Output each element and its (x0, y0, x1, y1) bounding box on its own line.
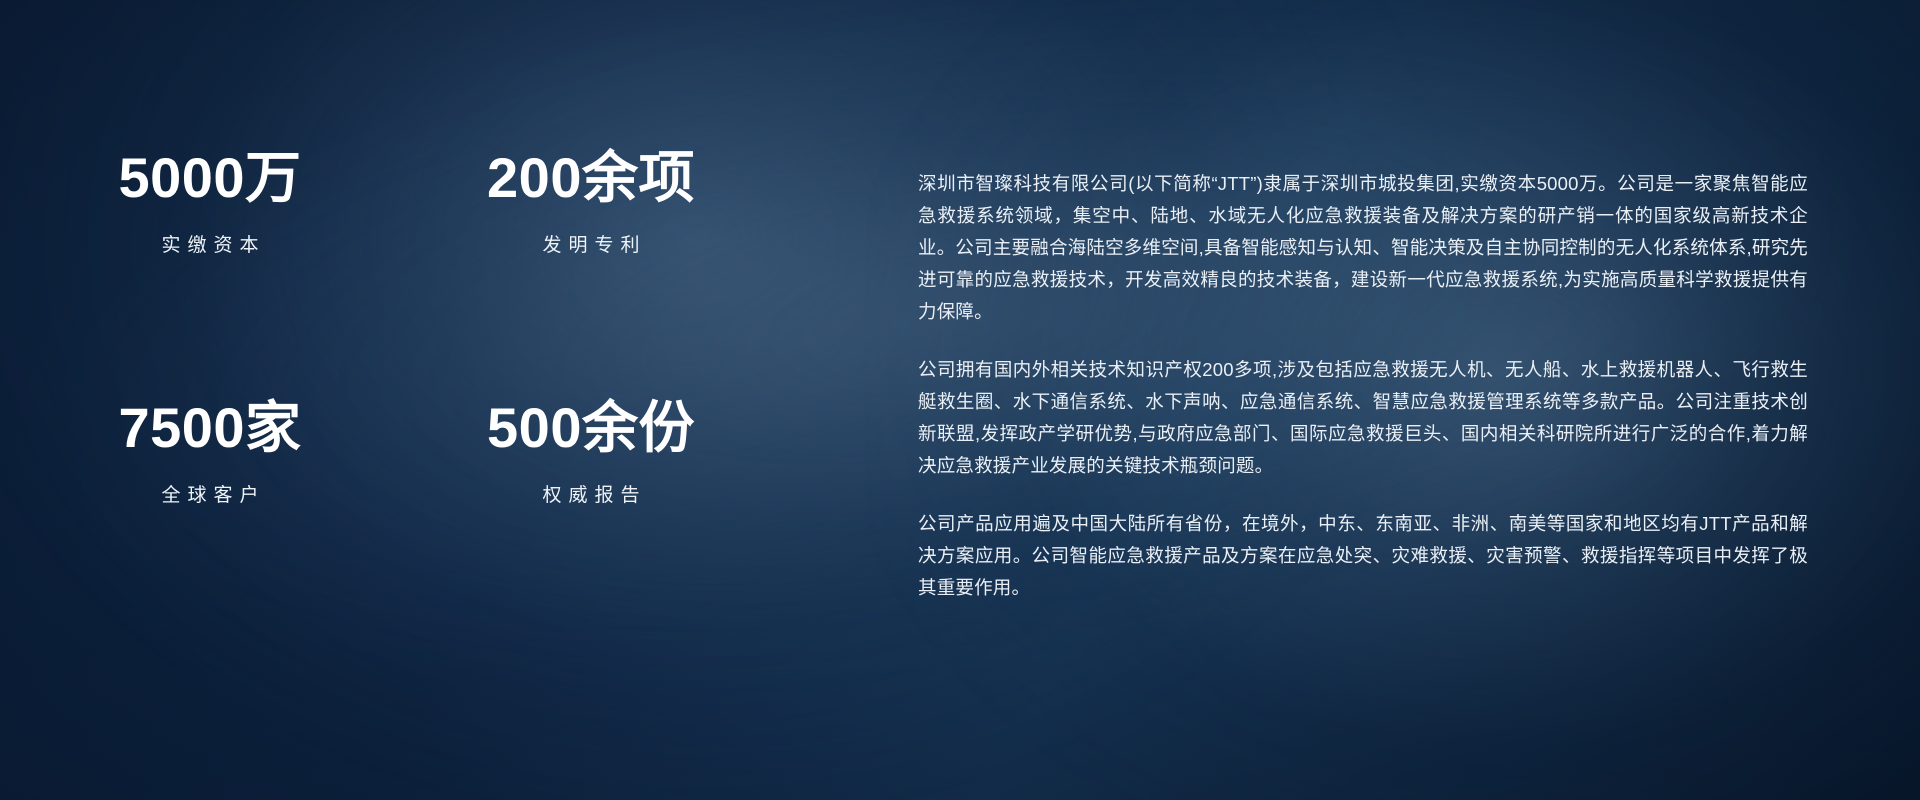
content-wrapper: 5000万 实缴资本 200余项 发明专利 7500家 全球客户 500余份 权… (0, 0, 1920, 800)
description-paragraph-2: 公司拥有国内外相关技术知识产权200多项,涉及包括应急救援无人机、无人船、水上救… (918, 354, 1808, 482)
stat-value: 200余项 (380, 150, 760, 206)
company-description: 深圳市智璨科技有限公司(以下简称“JTT”)隶属于深圳市城投集团,实缴资本500… (918, 168, 1808, 604)
stat-value: 500余份 (380, 400, 760, 456)
description-paragraph-1: 深圳市智璨科技有限公司(以下简称“JTT”)隶属于深圳市城投集团,实缴资本500… (918, 168, 1808, 328)
stat-value: 7500家 (0, 400, 380, 456)
stat-value: 5000万 (0, 150, 380, 206)
stat-item-global-customers: 7500家 全球客户 (0, 400, 380, 650)
stat-label: 全球客户 (0, 480, 380, 507)
stat-label: 权威报告 (380, 480, 760, 507)
stat-item-paid-in-capital: 5000万 实缴资本 (0, 150, 380, 400)
stat-item-authoritative-reports: 500余份 权威报告 (380, 400, 760, 650)
stat-label: 实缴资本 (0, 230, 380, 257)
stat-label: 发明专利 (380, 230, 760, 257)
statistics-grid: 5000万 实缴资本 200余项 发明专利 7500家 全球客户 500余份 权… (0, 150, 830, 650)
company-profile-section: 5000万 实缴资本 200余项 发明专利 7500家 全球客户 500余份 权… (0, 0, 1920, 800)
description-paragraph-3: 公司产品应用遍及中国大陆所有省份，在境外，中东、东南亚、非洲、南美等国家和地区均… (918, 508, 1808, 604)
stat-item-invention-patents: 200余项 发明专利 (380, 150, 760, 400)
